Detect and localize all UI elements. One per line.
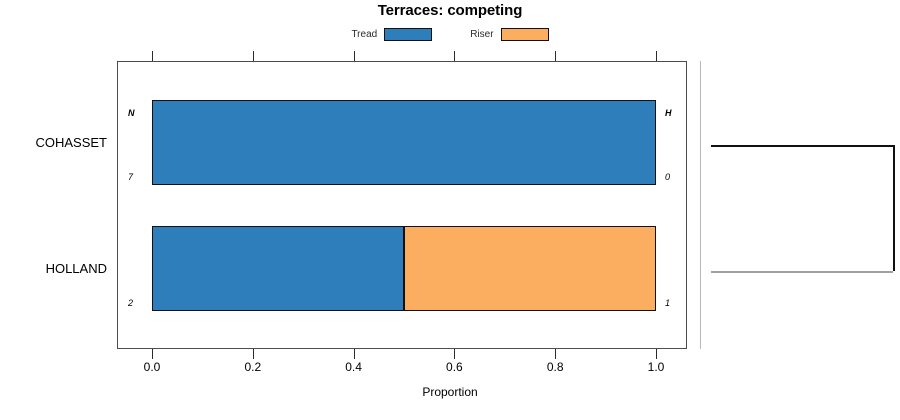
bar-segment-holland-tread[interactable]: [152, 226, 404, 311]
legend-swatch-riser: [501, 28, 549, 41]
dendrogram-branch-holland: [711, 271, 893, 273]
x-tick-label-0.2: 0.2: [244, 360, 261, 374]
n-header: N: [128, 108, 135, 118]
n-value-cohasset: 7: [128, 172, 133, 182]
category-label-cohasset: COHASSET: [35, 135, 107, 150]
x-tick-0.4: [354, 51, 355, 61]
x-tick-0.0: [152, 51, 153, 61]
n-value-holland: 2: [128, 298, 133, 308]
chart-title: Terraces: competing: [0, 2, 900, 19]
legend-item-tread[interactable]: Tread: [351, 28, 432, 41]
x-tick-0.4: [354, 349, 355, 359]
dendrogram-join: [893, 145, 895, 271]
h-value-cohasset: 0: [665, 172, 670, 182]
bar-segment-holland-riser[interactable]: [404, 226, 656, 311]
category-label-holland: HOLLAND: [46, 261, 107, 276]
x-tick-1.0: [656, 51, 657, 61]
x-tick-label-1.0: 1.0: [648, 360, 665, 374]
x-tick-label-0.0: 0.0: [144, 360, 161, 374]
x-tick-0.6: [454, 51, 455, 61]
h-header: H: [665, 108, 672, 118]
legend-label-riser: Riser: [470, 29, 493, 40]
x-tick-0.8: [555, 51, 556, 61]
dendrogram-spine: [700, 61, 701, 349]
x-tick-0.6: [454, 349, 455, 359]
x-tick-0.2: [253, 349, 254, 359]
chart-legend: Tread Riser: [0, 28, 900, 41]
x-tick-0.0: [152, 349, 153, 359]
x-tick-0.8: [555, 349, 556, 359]
bar-segment-cohasset-tread[interactable]: [152, 100, 656, 185]
dendrogram-branch-cohasset: [711, 145, 893, 147]
legend-label-tread: Tread: [351, 29, 377, 40]
legend-swatch-tread: [384, 28, 432, 41]
chart-canvas: Terraces: competing Tread Riser 0.00.20.…: [0, 0, 900, 420]
h-value-holland: 1: [665, 298, 670, 308]
legend-item-riser[interactable]: Riser: [470, 28, 548, 41]
x-axis-title: Proportion: [0, 385, 900, 399]
x-tick-label-0.6: 0.6: [446, 360, 463, 374]
x-tick-1.0: [656, 349, 657, 359]
x-tick-label-0.8: 0.8: [547, 360, 564, 374]
x-tick-0.2: [253, 51, 254, 61]
x-tick-label-0.4: 0.4: [345, 360, 362, 374]
